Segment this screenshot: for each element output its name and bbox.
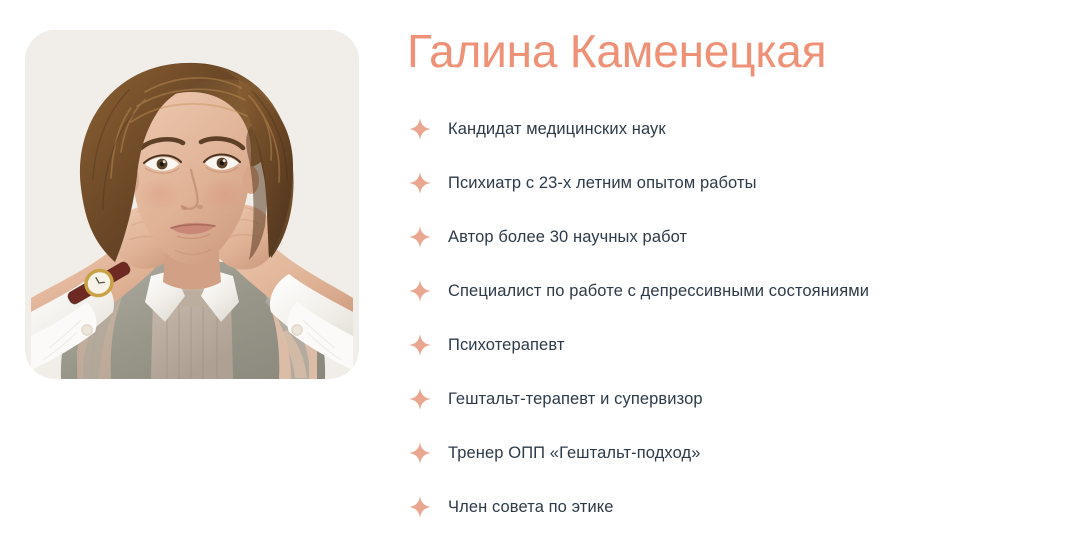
portrait-photo [25, 30, 359, 379]
page-title: Галина Каменецкая [407, 22, 1047, 80]
sparkle-icon [409, 334, 431, 356]
list-item: Специалист по работе с депрессивными сос… [407, 264, 1047, 318]
credential-text: Автор более 30 научных работ [448, 226, 687, 248]
credential-text: Психиатр с 23-х летним опытом работы [448, 172, 757, 194]
credential-text: Тренер ОПП «Гештальт-подход» [448, 442, 701, 464]
credential-text: Кандидат медицинских наук [448, 118, 666, 140]
list-item: Член совета по этике [407, 480, 1047, 534]
list-item: Психотерапевт [407, 318, 1047, 372]
sparkle-icon [409, 118, 431, 140]
sparkle-icon [409, 226, 431, 248]
list-item: Гештальт-терапевт и супервизор [407, 372, 1047, 426]
list-item: Кандидат медицинских наук [407, 102, 1047, 156]
sparkle-icon [409, 442, 431, 464]
credential-text: Гештальт-терапевт и супервизор [448, 388, 703, 410]
sparkle-icon [409, 388, 431, 410]
list-item: Тренер ОПП «Гештальт-подход» [407, 426, 1047, 480]
list-item: Психиатр с 23-х летним опытом работы [407, 156, 1047, 210]
list-item: Автор более 30 научных работ [407, 210, 1047, 264]
credential-text: Психотерапевт [448, 334, 564, 356]
sparkle-icon [409, 496, 431, 518]
profile-details: Галина Каменецкая Кандидат медицинских н… [407, 22, 1047, 534]
sparkle-icon [409, 280, 431, 302]
profile-photo-card [25, 30, 359, 379]
credential-text: Специалист по работе с депрессивными сос… [448, 280, 869, 302]
credentials-list: Кандидат медицинских наук Психиатр с 23-… [407, 102, 1047, 534]
sparkle-icon [409, 172, 431, 194]
credential-text: Член совета по этике [448, 496, 614, 518]
profile-page: Галина Каменецкая Кандидат медицинских н… [0, 0, 1071, 535]
